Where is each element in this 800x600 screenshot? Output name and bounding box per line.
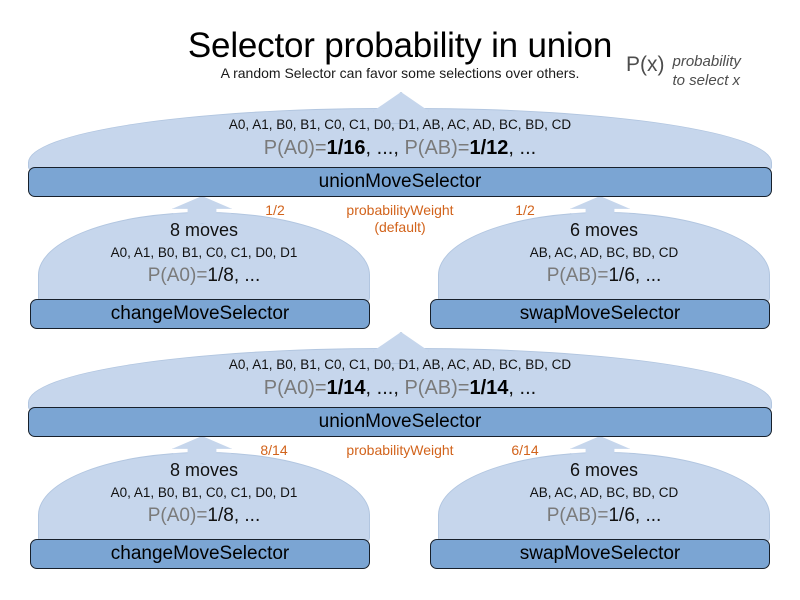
weight-center-2: probabilityWeight: [318, 442, 482, 459]
weight-left-2: 8/14: [246, 442, 302, 459]
weight-left-1: 1/2: [250, 202, 300, 219]
legend-description: probability to select x: [673, 52, 741, 90]
union-probability-1: P(A0)=1/16, ..., P(AB)=1/12, ...: [28, 137, 772, 160]
diagram-canvas: Selector probability in union A random S…: [0, 0, 800, 600]
swap-prob-prefix-1: P(AB)=: [547, 265, 609, 286]
swap-moves-list-1: AB, AC, AD, BC, BD, CD: [438, 244, 770, 261]
union-prob-value-2a: 1/14: [327, 377, 366, 399]
union-prob-prefix-1a: P(A0)=: [264, 137, 327, 159]
weight-right-2: 6/14: [497, 442, 553, 459]
union-moves-list-2: A0, A1, B0, B1, C0, C1, D0, D1, AB, AC, …: [28, 356, 772, 373]
swap-selector-node-2: 6 moves AB, AC, AD, BC, BD, CD P(AB)=1/6…: [438, 452, 770, 542]
header: Selector probability in union A random S…: [0, 0, 800, 92]
weight-center-1: probabilityWeight (default): [318, 202, 482, 236]
union-prob-suffix-1: , ...: [508, 137, 536, 159]
swap-selector-label-2: swapMoveSelector: [520, 543, 681, 565]
swap-moves-count-1: 6 moves: [438, 220, 770, 241]
legend-key: P(x): [626, 52, 665, 78]
swap-selector-bar-2[interactable]: swapMoveSelector: [430, 539, 770, 569]
legend-description-line2: to select x: [673, 71, 741, 90]
change-prob-prefix-2: P(A0)=: [148, 505, 208, 526]
change-probability-2: P(A0)=1/8, ...: [38, 504, 370, 527]
change-moves-list-2: A0, A1, B0, B1, C0, C1, D0, D1: [38, 484, 370, 501]
union-bar-label-2: unionMoveSelector: [319, 411, 482, 433]
weight-center-label-2: probabilityWeight: [346, 442, 453, 458]
change-selector-label-1: changeMoveSelector: [111, 303, 290, 325]
legend: P(x) probability to select x: [626, 52, 741, 90]
legend-description-line1: probability: [673, 52, 741, 71]
union-prob-prefix-2a: P(A0)=: [264, 377, 327, 399]
swap-moves-count-2: 6 moves: [438, 460, 770, 481]
union-prob-mid-1: , ...,: [366, 137, 405, 159]
change-selector-bar-2[interactable]: changeMoveSelector: [30, 539, 370, 569]
change-moves-count-2: 8 moves: [38, 460, 370, 481]
swap-prob-prefix-2: P(AB)=: [547, 505, 609, 526]
union-bar-2[interactable]: unionMoveSelector: [28, 407, 772, 437]
swap-probability-1: P(AB)=1/6, ...: [438, 264, 770, 287]
union-prob-prefix-1b: P(AB)=: [404, 137, 469, 159]
swap-prob-value-2: 1/6, ...: [608, 505, 661, 526]
swap-selector-label-1: swapMoveSelector: [520, 303, 681, 325]
union-prob-value-2b: 1/14: [469, 377, 508, 399]
weight-right-1: 1/2: [500, 202, 550, 219]
change-moves-list-1: A0, A1, B0, B1, C0, C1, D0, D1: [38, 244, 370, 261]
change-selector-bar-1[interactable]: changeMoveSelector: [30, 299, 370, 329]
weight-left-value-2: 8/14: [260, 442, 287, 458]
union-prob-mid-2: , ...,: [366, 377, 405, 399]
change-probability-1: P(A0)=1/8, ...: [38, 264, 370, 287]
union-probability-2: P(A0)=1/14, ..., P(AB)=1/14, ...: [28, 377, 772, 400]
union-node-1: A0, A1, B0, B1, C0, C1, D0, D1, AB, AC, …: [28, 108, 772, 170]
change-selector-label-2: changeMoveSelector: [111, 543, 290, 565]
union-node-2: A0, A1, B0, B1, C0, C1, D0, D1, AB, AC, …: [28, 348, 772, 410]
weight-right-value-2: 6/14: [511, 442, 538, 458]
change-prob-value-1: 1/8, ...: [207, 265, 260, 286]
swap-prob-value-1: 1/6, ...: [608, 265, 661, 286]
union-moves-list-1: A0, A1, B0, B1, C0, C1, D0, D1, AB, AC, …: [28, 116, 772, 133]
swap-selector-node-1: 6 moves AB, AC, AD, BC, BD, CD P(AB)=1/6…: [438, 212, 770, 302]
change-prob-value-2: 1/8, ...: [207, 505, 260, 526]
union-prob-suffix-2: , ...: [508, 377, 536, 399]
weight-left-value-1: 1/2: [265, 202, 284, 218]
weight-center-sub-1: (default): [318, 219, 482, 236]
change-selector-node-2: 8 moves A0, A1, B0, B1, C0, C1, D0, D1 P…: [38, 452, 370, 542]
union-prob-prefix-2b: P(AB)=: [404, 377, 469, 399]
weight-right-value-1: 1/2: [515, 202, 534, 218]
weight-center-label-1: probabilityWeight: [346, 202, 453, 218]
union-prob-value-1a: 1/16: [327, 137, 366, 159]
swap-moves-list-2: AB, AC, AD, BC, BD, CD: [438, 484, 770, 501]
union-bar-1[interactable]: unionMoveSelector: [28, 167, 772, 197]
swap-probability-2: P(AB)=1/6, ...: [438, 504, 770, 527]
change-prob-prefix-1: P(A0)=: [148, 265, 208, 286]
swap-selector-bar-1[interactable]: swapMoveSelector: [430, 299, 770, 329]
union-bar-label-1: unionMoveSelector: [319, 171, 482, 193]
union-prob-value-1b: 1/12: [469, 137, 508, 159]
